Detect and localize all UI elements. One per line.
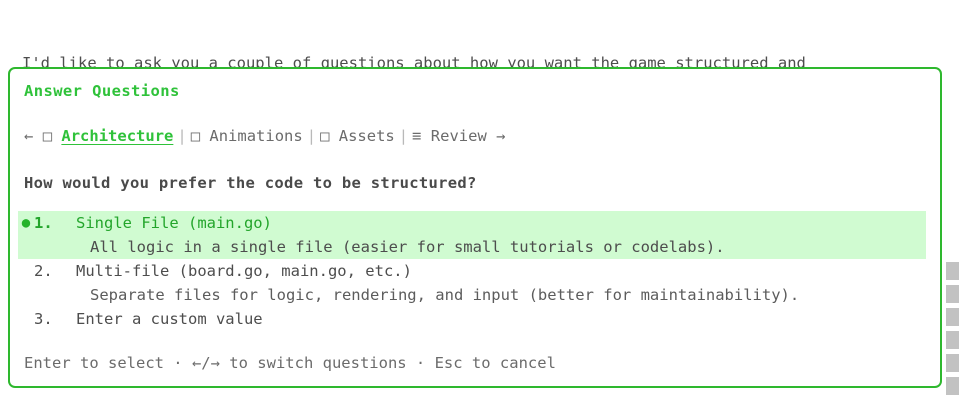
answer-questions-panel: Answer Questions ← □ Architecture | □ An… [8,67,942,388]
option-2-description-row: Separate files for logic, rendering, and… [18,283,940,307]
tab-separator-1: | [173,125,190,147]
option-item-3[interactable]: 3. Enter a custom value [18,307,940,331]
question-tab-bar: ← □ Architecture | □ Animations | □ Asse… [24,125,505,147]
checkbox-icon: □ [320,125,329,147]
tab-gap [421,125,430,147]
option-1-number: 1. [34,212,76,234]
option-1-description: All logic in a single file (easier for s… [90,236,725,258]
scrollbar-block[interactable] [946,377,959,395]
checkbox-icon: □ [191,125,200,147]
option-3-label: Enter a custom value [76,308,263,330]
scrollbar[interactable] [946,262,959,400]
option-1-description-row: All logic in a single file (easier for s… [18,235,926,259]
tab-review-label: Review [431,125,487,147]
tab-arrow-space [33,125,42,147]
option-2-label: Multi-file (board.go, main.go, etc.) [76,260,412,282]
options-list: ● 1. Single File (main.go) All logic in … [10,211,940,331]
scrollbar-block[interactable] [946,285,959,303]
tab-separator-2: | [303,125,320,147]
next-question-arrow-icon[interactable]: → [496,125,505,147]
tab-gap [52,125,61,147]
scrollbar-block[interactable] [946,354,959,372]
tab-review[interactable]: ≡ Review [412,125,487,147]
tab-animations-label: Animations [209,125,302,147]
option-1-main-row: ● 1. Single File (main.go) [18,211,926,235]
option-item-1[interactable]: ● 1. Single File (main.go) All logic in … [18,211,926,259]
option-3-number: 3. [34,308,76,330]
list-icon: ≡ [412,125,421,147]
option-1-label: Single File (main.go) [76,212,272,234]
tab-architecture-label: Architecture [61,125,173,147]
option-2-number: 2. [34,260,76,282]
option-2-description: Separate files for logic, rendering, and… [90,284,799,306]
scrollbar-block[interactable] [946,308,959,326]
keyboard-hint: Enter to select · ←/→ to switch question… [24,352,556,374]
checkbox-icon: □ [43,125,52,147]
tab-separator-3: | [395,125,412,147]
question-prompt: How would you prefer the code to be stru… [24,172,477,194]
panel-title: Answer Questions [24,80,180,102]
tab-gap [329,125,338,147]
selected-bullet-icon: ● [18,212,34,234]
tab-architecture[interactable]: □ Architecture [43,125,174,147]
tab-animations[interactable]: □ Animations [191,125,303,147]
tab-assets-label: Assets [339,125,395,147]
scrollbar-block[interactable] [946,331,959,349]
option-2-main-row: 2. Multi-file (board.go, main.go, etc.) [18,259,940,283]
scrollbar-block[interactable] [946,262,959,280]
tab-assets[interactable]: □ Assets [320,125,395,147]
option-item-2[interactable]: 2. Multi-file (board.go, main.go, etc.) … [18,259,940,307]
tab-gap [200,125,209,147]
prev-question-arrow-icon[interactable]: ← [24,125,33,147]
option-3-main-row: 3. Enter a custom value [18,307,940,331]
tab-gap [487,125,496,147]
